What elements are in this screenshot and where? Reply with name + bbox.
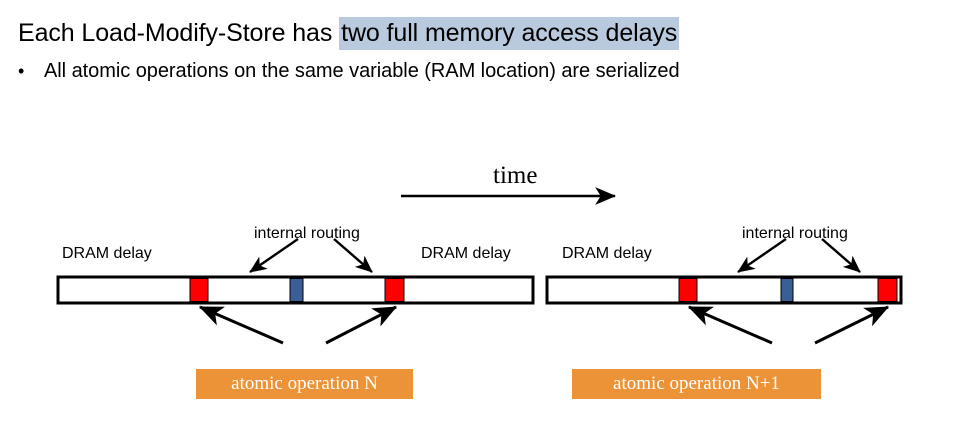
atomic-operation-n-badge: atomic operation N [196,369,413,399]
right-bar-outline [547,277,901,303]
left-bar-access-block-1 [190,279,208,302]
left-timeline-bar [58,277,533,303]
left-operation-arrows [200,307,396,343]
right-dram-delay-label-start: DRAM delay [562,244,652,264]
timeline-diagram: time DRAM delay internal routing DRAM de… [0,0,957,441]
left-bar-access-block-2 [385,279,404,302]
left-bar-routing-block [290,279,303,302]
left-internal-routing-label: internal routing [254,224,360,244]
right-internal-routing-label: internal routing [742,224,848,244]
right-bar-routing-block [781,279,793,302]
right-timeline-bar [547,277,901,303]
right-operation-arrows [689,307,888,343]
atomic-operation-n-plus-1-badge: atomic operation N+1 [572,369,821,399]
slide-canvas: Each Load-Modify-Store has two full memo… [0,0,957,441]
right-bar-access-block-1 [679,279,697,302]
left-dram-delay-label-end: DRAM delay [421,244,511,264]
left-dram-delay-label-start: DRAM delay [62,244,152,264]
time-axis-label: time [493,162,537,190]
right-bar-access-block-2 [878,279,897,302]
